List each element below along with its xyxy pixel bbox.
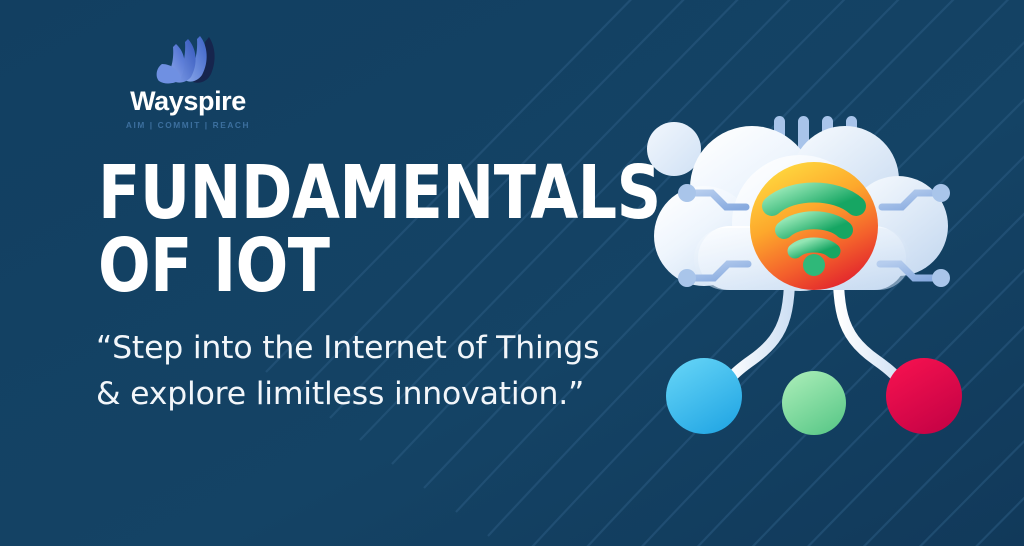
floating-circle bbox=[647, 122, 701, 176]
banner-root: Wayspire AIM | COMMIT | REACH FUNDAMENTA… bbox=[0, 0, 1024, 546]
hero-subtitle: “Step into the Internet of Things & expl… bbox=[96, 326, 599, 417]
node-green bbox=[782, 371, 846, 435]
iot-cloud-illustration bbox=[640, 108, 988, 438]
page-title: FUNDAMENTALS OF IOT bbox=[98, 157, 661, 302]
node-red bbox=[886, 358, 962, 434]
brand-name: Wayspire bbox=[130, 88, 246, 115]
wifi-badge-icon bbox=[750, 162, 878, 290]
brand-logo[interactable]: Wayspire AIM | COMMIT | REACH bbox=[88, 34, 288, 130]
node-blue bbox=[666, 358, 742, 434]
brand-tagline: AIM | COMMIT | REACH bbox=[126, 120, 250, 130]
wing-logo-icon bbox=[153, 34, 227, 86]
